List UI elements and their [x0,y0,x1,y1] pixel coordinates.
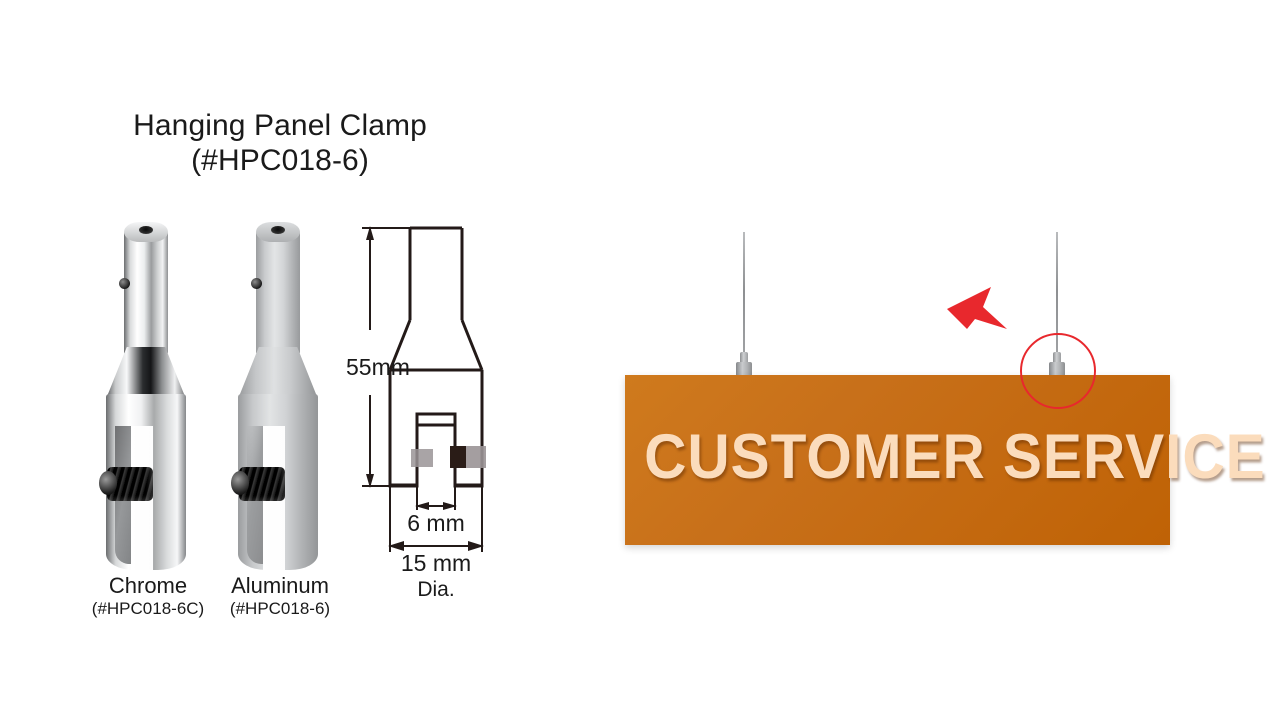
product-photo-group: Chrome (#HPC018-6C) Aluminum (#HPC018-6) [0,0,380,720]
caption-chrome-finish: Chrome [78,573,218,599]
caption-chrome-sku: (#HPC018-6C) [78,599,218,619]
technical-drawing: 55mm 6 mm 15 mm Dia. [350,210,550,620]
clamp-screw-head [231,471,249,495]
caption-aluminum: Aluminum (#HPC018-6) [210,573,350,619]
customer-service-sign: CUSTOMER SERVICE [625,375,1170,545]
clamp-shoulder-taper [238,347,318,399]
caption-aluminum-sku: (#HPC018-6) [210,599,350,619]
dimension-label-diameter-note: Dia. [380,578,492,602]
product-photo-aluminum [235,222,325,572]
drawing-upper-cylinder [410,228,462,320]
dimension-label-diameter: 15 mm [380,550,492,577]
sign-text: CUSTOMER SERVICE [644,421,1151,493]
clamp-shoulder-taper [106,347,186,399]
red-highlight-circle [1020,333,1096,409]
drawing-legs [390,370,482,486]
clamp-screw-head [99,471,117,495]
caption-aluminum-finish: Aluminum [210,573,350,599]
dimension-line-slot-width [415,502,457,510]
clamp-cable-hole [271,226,285,234]
clamp-upper-set-screw [251,278,262,289]
drawing-screw-shank [411,449,433,467]
drawing-screw-head [450,446,466,468]
dimension-label-slot-width: 6 mm [390,510,482,537]
clamp-cable-hole [139,226,153,234]
caption-chrome: Chrome (#HPC018-6C) [78,573,218,619]
application-photo: CUSTOMER SERVICE [600,200,1240,600]
product-photo-chrome [103,222,193,572]
clamp-upper-set-screw [119,278,130,289]
dimension-label-height: 55mm [346,354,410,381]
red-callout-arrow-icon [945,285,1025,335]
